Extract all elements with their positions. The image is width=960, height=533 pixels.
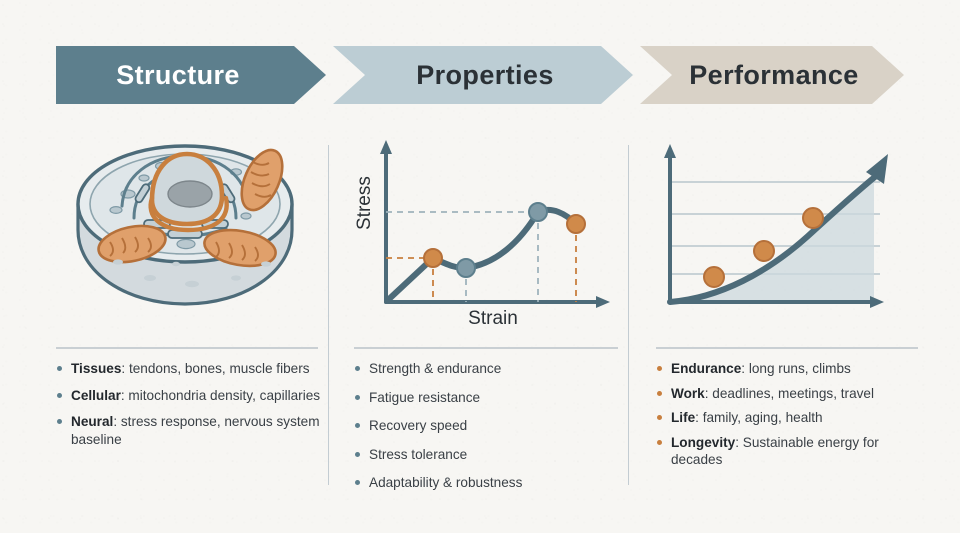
y-axis-arrowhead (380, 140, 392, 154)
list-item: Recovery speed (354, 417, 624, 435)
list-item: Stress tolerance (354, 446, 624, 464)
stress-strain-chart: Stress Strain (338, 132, 630, 327)
stage-header-band: Structure Properties Performance (56, 46, 904, 104)
growth-area-fill (670, 178, 874, 302)
y-axis-label: Stress (354, 176, 375, 230)
list-item: Neural: stress response, nervous system … (56, 413, 324, 448)
section-rule-performance (656, 347, 918, 349)
marker-point-3 (803, 208, 823, 228)
bullet-list-structure: Tissues: tendons, bones, muscle fibers C… (56, 360, 324, 457)
bullet-detail: : long runs, climbs (741, 361, 851, 376)
bullet-term: Neural (71, 414, 113, 429)
nucleus (152, 154, 222, 224)
bullet-detail: Recovery speed (369, 418, 467, 433)
bullet-list-performance: Endurance: long runs, climbs Work: deadl… (656, 360, 924, 476)
bullet-detail: Strength & endurance (369, 361, 501, 376)
marker-point-1 (704, 267, 724, 287)
column-structure: Tissues: tendons, bones, muscle fibers C… (40, 132, 330, 490)
marker-yield-point (424, 249, 442, 267)
bullet-term: Longevity (671, 435, 735, 450)
bullet-detail: : mitochondria density, capillaries (121, 388, 320, 403)
list-item: Fatigue resistance (354, 389, 624, 407)
list-item: Tissues: tendons, bones, muscle fibers (56, 360, 324, 378)
marker-ultimate-strength (529, 203, 547, 221)
list-item: Endurance: long runs, climbs (656, 360, 924, 378)
stage-label-performance: Performance (667, 60, 876, 91)
stage-label-structure: Structure (116, 60, 266, 91)
stage-chevron-properties[interactable]: Properties (333, 46, 633, 104)
bullet-term: Life (671, 410, 695, 425)
x-axis-label: Strain (468, 308, 518, 329)
marker-point-2 (754, 241, 774, 261)
list-item: Cellular: mitochondria density, capillar… (56, 387, 324, 405)
section-rule-structure (56, 347, 318, 349)
column-properties: Stress Strain Strength & endurance Fatig… (338, 132, 630, 490)
x-axis-arrowhead (596, 296, 610, 308)
bullet-detail: Adaptability & robustness (369, 475, 522, 490)
list-item: Adaptability & robustness (354, 474, 624, 492)
bullet-detail: Stress tolerance (369, 447, 467, 462)
bullet-detail: : deadlines, meetings, travel (705, 386, 874, 401)
list-item: Life: family, aging, health (656, 409, 924, 427)
bullet-detail: : tendons, bones, muscle fibers (121, 361, 309, 376)
bullet-detail: Fatigue resistance (369, 390, 480, 405)
stage-chevron-performance[interactable]: Performance (640, 46, 904, 104)
y-axis-arrowhead (664, 144, 676, 158)
column-performance: Endurance: long runs, climbs Work: deadl… (640, 132, 930, 490)
bullet-term: Endurance (671, 361, 741, 376)
guide-lines (386, 212, 576, 302)
list-item: Strength & endurance (354, 360, 624, 378)
stage-label-properties: Properties (392, 60, 574, 91)
cell-illustration (40, 132, 330, 327)
growth-curve-chart (640, 132, 930, 327)
x-axis-arrowhead (870, 296, 884, 308)
bullet-term: Tissues (71, 361, 121, 376)
list-item: Longevity: Sustainable energy for decade… (656, 434, 924, 469)
stage-chevron-structure[interactable]: Structure (56, 46, 326, 104)
stress-strain-curve (388, 210, 576, 300)
bullet-detail: : family, aging, health (695, 410, 822, 425)
bullet-term: Work (671, 386, 705, 401)
section-rule-properties (354, 347, 618, 349)
bullet-list-properties: Strength & endurance Fatigue resistance … (354, 360, 624, 503)
marker-fracture (567, 215, 585, 233)
bullet-term: Cellular (71, 388, 121, 403)
marker-strain-hardening (457, 259, 475, 277)
list-item: Work: deadlines, meetings, travel (656, 385, 924, 403)
